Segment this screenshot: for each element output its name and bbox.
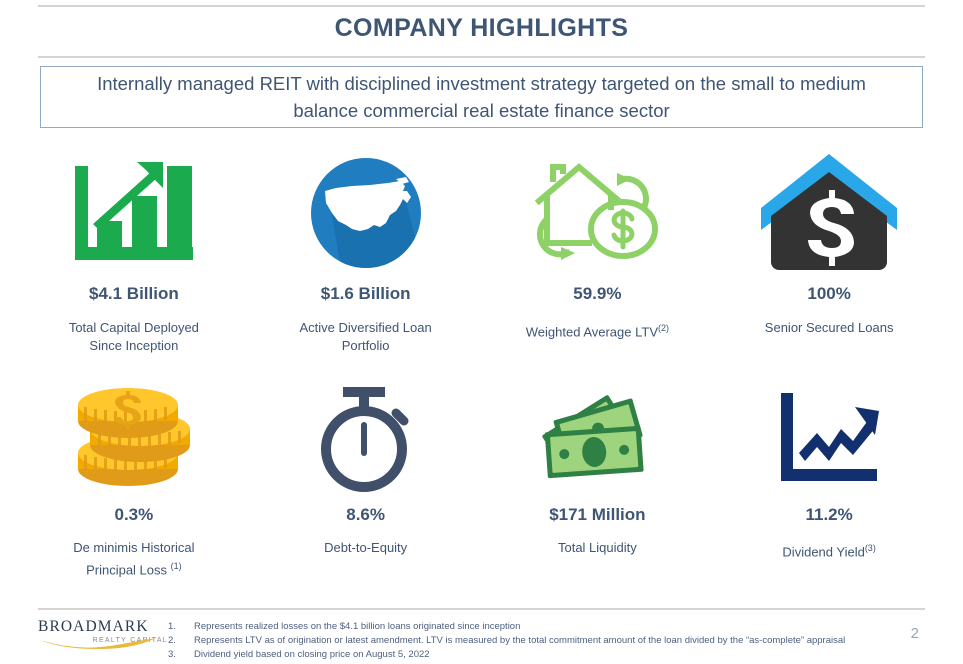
metric-label: Weighted Average LTV(2)	[526, 319, 669, 341]
metric-card-dividend-yield: 11.2% Dividend Yield(3)	[713, 369, 945, 600]
metric-value: 100%	[807, 284, 850, 304]
footnote-item: 3. Dividend yield based on closing price…	[168, 648, 908, 662]
metric-value: 11.2%	[805, 505, 852, 525]
metric-label-line1: De minimis Historical	[73, 540, 194, 555]
house-dollar-icon	[755, 144, 903, 282]
metric-label: Active Diversified Loan Portfolio	[300, 319, 432, 355]
metric-label-line1: Total Capital Deployed	[69, 320, 199, 335]
metric-label-line1: Active Diversified Loan	[300, 320, 432, 335]
metrics-grid: $4.1 Billion Total Capital Deployed Sinc…	[18, 138, 945, 600]
metric-card-de-minimis-historical-principal-loss: 0.3% De minimis Historical Principal Los…	[18, 369, 250, 600]
metric-label-line1: Senior Secured Loans	[765, 320, 894, 335]
metric-card-senior-secured-loans: 100% Senior Secured Loans	[713, 138, 945, 369]
header-divider-bottom	[38, 56, 925, 58]
gold-coins-stack-icon	[72, 375, 196, 503]
metric-label-line1: Weighted Average LTV	[526, 324, 658, 339]
footnote-text: Represents LTV as of origination or late…	[194, 634, 845, 648]
footnote-text: Dividend yield based on closing price on…	[194, 648, 430, 662]
footnote-text: Represents realized losses on the $4.1 b…	[194, 620, 520, 634]
slide-canvas: COMPANY HIGHLIGHTS Internally managed RE…	[0, 0, 963, 664]
metric-label-line1: Total Liquidity	[558, 540, 637, 555]
metric-label-line2: Since Inception	[89, 338, 178, 353]
strategy-callout-box: Internally managed REIT with disciplined…	[40, 66, 923, 128]
metric-label: De minimis Historical Principal Loss (1)	[73, 539, 194, 579]
footnote-number: 3.	[168, 648, 194, 662]
header-divider-top	[38, 5, 925, 7]
metric-value: $171 Million	[549, 505, 645, 525]
footnote-number: 2.	[168, 634, 194, 648]
metric-label-line2: Principal Loss	[86, 562, 167, 577]
metric-card-total-liquidity: $171 Million Total Liquidity	[482, 369, 714, 600]
metric-value: 0.3%	[115, 505, 154, 525]
cash-banknotes-icon	[532, 375, 662, 503]
metric-footnote-ref: (1)	[171, 561, 182, 571]
metric-card-total-capital-deployed: $4.1 Billion Total Capital Deployed Sinc…	[18, 138, 250, 369]
metric-label-line1: Dividend Yield	[782, 544, 864, 559]
logo-swoosh-icon	[38, 636, 158, 650]
metric-value: $4.1 Billion	[89, 284, 179, 304]
footnote-number: 1.	[168, 620, 194, 634]
metric-value: $1.6 Billion	[321, 284, 411, 304]
usa-map-circle-icon	[308, 144, 424, 282]
metric-card-debt-to-equity: 8.6% Debt-to-Equity	[250, 369, 482, 600]
stopwatch-icon	[310, 375, 422, 503]
metric-value: 59.9%	[573, 284, 621, 304]
footnotes-list: 1. Represents realized losses on the $4.…	[168, 620, 908, 662]
metric-value: 8.6%	[346, 505, 385, 525]
broadmark-logo: BROADMARK REALTY CAPITAL	[38, 618, 168, 644]
footnote-item: 2. Represents LTV as of origination or l…	[168, 634, 908, 648]
bar-chart-growth-icon	[71, 144, 197, 282]
metric-label-line1: Debt-to-Equity	[324, 540, 407, 555]
footnote-item: 1. Represents realized losses on the $4.…	[168, 620, 908, 634]
strategy-callout-text: Internally managed REIT with disciplined…	[65, 70, 898, 124]
metric-label-line2: Portfolio	[342, 338, 390, 353]
page-title: COMPANY HIGHLIGHTS	[0, 14, 963, 43]
metric-label: Debt-to-Equity	[324, 539, 407, 557]
metric-label: Total Liquidity	[558, 539, 637, 557]
line-chart-up-icon	[777, 375, 881, 503]
metric-card-weighted-average-ltv: 59.9% Weighted Average LTV(2)	[482, 138, 714, 369]
metric-footnote-ref: (3)	[865, 543, 876, 553]
metric-label: Total Capital Deployed Since Inception	[69, 319, 199, 355]
footer-divider	[38, 608, 925, 610]
page-number: 2	[911, 625, 919, 642]
logo-wordmark: BROADMARK	[38, 618, 168, 636]
metric-footnote-ref: (2)	[658, 323, 669, 333]
metric-label: Dividend Yield(3)	[782, 539, 875, 561]
house-refinance-dollar-icon	[531, 144, 663, 282]
metric-card-active-diversified-loan-portfolio: $1.6 Billion Active Diversified Loan Por…	[250, 138, 482, 369]
metric-label: Senior Secured Loans	[765, 319, 894, 337]
